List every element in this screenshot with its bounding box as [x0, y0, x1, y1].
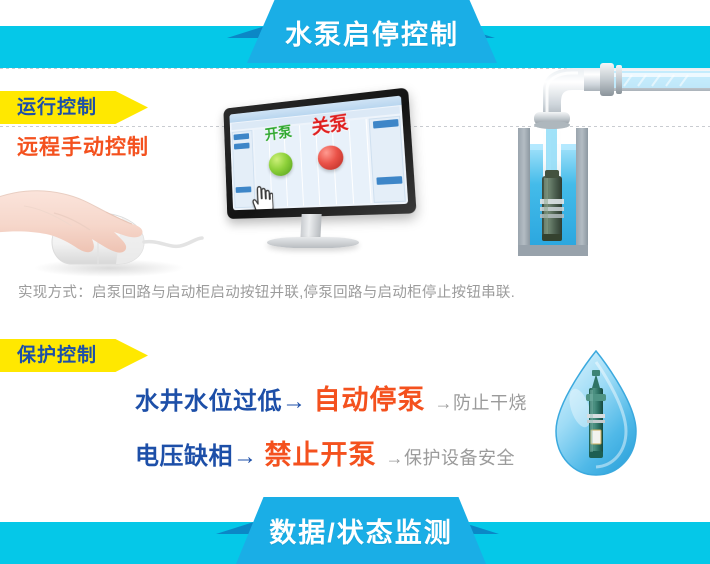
hand-cursor-icon: [249, 183, 274, 210]
computer-mouse-icon: [0, 168, 204, 280]
protection-row-1: 水井水位过低→ 自动停泵 →防止干烧: [135, 378, 527, 417]
monitor-screen: 开泵 关泵: [229, 96, 408, 211]
protection-row-2-result: →保护设备安全: [386, 444, 516, 470]
protection-row-2-condition: 电压缺相→: [135, 436, 258, 471]
top-banner-ribbon: 水泵启停控制: [247, 0, 497, 63]
protection-row-1-action: 自动停泵: [314, 378, 426, 417]
monitor-bezel: 开泵 关泵: [223, 87, 416, 219]
run-control-subtitle: 远程手动控制: [17, 137, 149, 158]
run-control-tag: 运行控制: [0, 91, 148, 124]
protection-control-tag: 保护控制: [0, 339, 148, 372]
desktop-monitor: 开泵 关泵: [205, 96, 425, 266]
protection-control-tag-label: 保护控制: [0, 346, 97, 365]
hand-on-mouse-illustration: [0, 168, 204, 280]
water-droplet-pump-icon: [548, 348, 644, 480]
top-banner-title: 水泵启停控制: [285, 22, 459, 49]
run-control-tag-label: 运行控制: [0, 98, 97, 117]
well-pump-illustration: [492, 60, 710, 268]
app-right-panel: [369, 116, 406, 203]
protection-row-1-condition: 水井水位过低→: [135, 381, 307, 416]
monitor-start-pump-label: 开泵: [264, 125, 292, 143]
implementation-note: 实现方式：启泵回路与启动柜启动按钮并联,停泵回路与启动柜停止按钮串联.: [18, 286, 515, 301]
water-droplet-illustration: [548, 348, 644, 480]
protection-row-2-action: 禁止开泵: [265, 433, 377, 472]
poster-canvas: 水泵启停控制 运行控制 远程手动控制: [0, 0, 710, 564]
well-submersible-pump-icon: [492, 60, 710, 268]
bottom-banner-ribbon: 数据/状态监测: [236, 497, 486, 564]
monitor-stand-base: [267, 237, 359, 248]
app-right-chip-2: [376, 176, 402, 185]
monitor-stop-pump-label: 关泵: [310, 114, 349, 138]
protection-row-2: 电压缺相→ 禁止开泵 →保护设备安全: [135, 433, 515, 472]
protection-row-1-result: →防止干烧: [435, 389, 528, 415]
bottom-banner-title: 数据/状态监测: [269, 520, 453, 547]
